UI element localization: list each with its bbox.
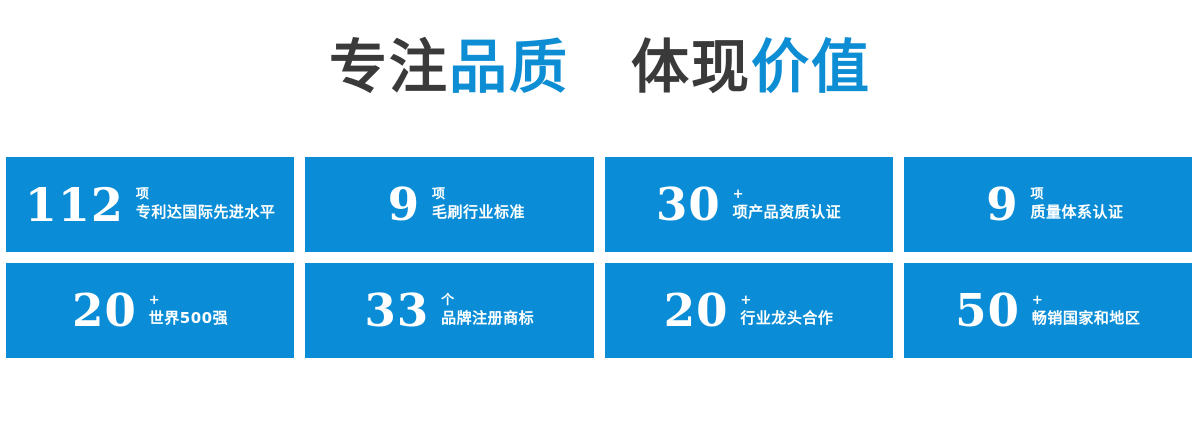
stat-text-block: 项 质量体系认证: [1031, 188, 1124, 221]
stat-unit: 项: [136, 188, 149, 203]
stat-text-block: 个 品牌注册商标: [441, 294, 534, 327]
stat-label: 行业龙头合作: [740, 310, 833, 327]
stat-text-block: 项 毛刷行业标准: [432, 188, 525, 221]
stat-unit: +: [149, 294, 160, 309]
stat-content: 33 个 品牌注册商标: [365, 288, 535, 333]
promo-banner: 专注品质体现价值 112 项 专利达国际先进水平 9 项 毛刷行业标准: [0, 0, 1200, 444]
stat-content: 20 + 世界500强: [72, 288, 228, 333]
stat-card[interactable]: 50 + 畅销国家和地区: [904, 263, 1192, 358]
page-title: 专注品质体现价值: [0, 38, 1200, 96]
stat-unit: +: [733, 188, 744, 203]
stat-unit: +: [740, 294, 751, 309]
stat-label: 质量体系认证: [1031, 204, 1124, 221]
stat-text-block: + 行业龙头合作: [740, 294, 833, 327]
stat-label: 项产品资质认证: [733, 204, 842, 221]
stat-label: 毛刷行业标准: [432, 204, 525, 221]
stat-text-block: + 世界500强: [149, 294, 228, 327]
stat-unit: +: [1032, 294, 1043, 309]
stat-content: 112 项 专利达国际先进水平: [25, 182, 276, 228]
stat-content: 9 项 毛刷行业标准: [374, 182, 525, 227]
stat-label: 专利达国际先进水平: [136, 204, 276, 221]
title-segment-dark-1: 专注: [329, 33, 449, 101]
stat-content: 20 + 行业龙头合作: [664, 288, 834, 333]
stat-number: 30: [656, 182, 721, 227]
stat-content: 9 项 质量体系认证: [972, 182, 1123, 227]
stat-card[interactable]: 9 项 质量体系认证: [904, 157, 1192, 252]
stat-card[interactable]: 112 项 专利达国际先进水平: [6, 157, 294, 252]
stat-text-block: 项 专利达国际先进水平: [136, 188, 276, 221]
stat-unit: 项: [432, 188, 445, 203]
stat-label: 畅销国家和地区: [1032, 310, 1141, 327]
title-segment-blue-2: 价值: [751, 33, 871, 101]
stat-unit: 个: [441, 294, 454, 309]
stat-number: 9: [986, 182, 1018, 227]
stat-card[interactable]: 9 项 毛刷行业标准: [305, 157, 593, 252]
stat-content: 30 + 项产品资质认证: [656, 182, 841, 227]
stat-number: 112: [25, 182, 124, 228]
stat-content: 50 + 畅销国家和地区: [955, 288, 1140, 333]
title-segment-blue-1: 品质: [449, 33, 569, 101]
stat-number: 20: [72, 288, 137, 333]
stat-unit: 项: [1031, 188, 1044, 203]
stat-text-block: + 项产品资质认证: [733, 188, 842, 221]
title-segment-dark-2: 体现: [631, 33, 751, 101]
stat-label: 品牌注册商标: [441, 310, 534, 327]
stat-label: 世界500强: [149, 310, 228, 327]
stat-card[interactable]: 20 + 行业龙头合作: [605, 263, 893, 358]
stat-card[interactable]: 20 + 世界500强: [6, 263, 294, 358]
stat-number: 20: [664, 288, 729, 333]
stat-text-block: + 畅销国家和地区: [1032, 294, 1141, 327]
stat-number: 50: [955, 288, 1020, 333]
stats-grid: 112 项 专利达国际先进水平 9 项 毛刷行业标准 30 +: [6, 157, 1192, 358]
stat-card[interactable]: 30 + 项产品资质认证: [605, 157, 893, 252]
stat-number: 33: [365, 288, 430, 333]
stat-number: 9: [388, 182, 420, 227]
stat-card[interactable]: 33 个 品牌注册商标: [305, 263, 593, 358]
